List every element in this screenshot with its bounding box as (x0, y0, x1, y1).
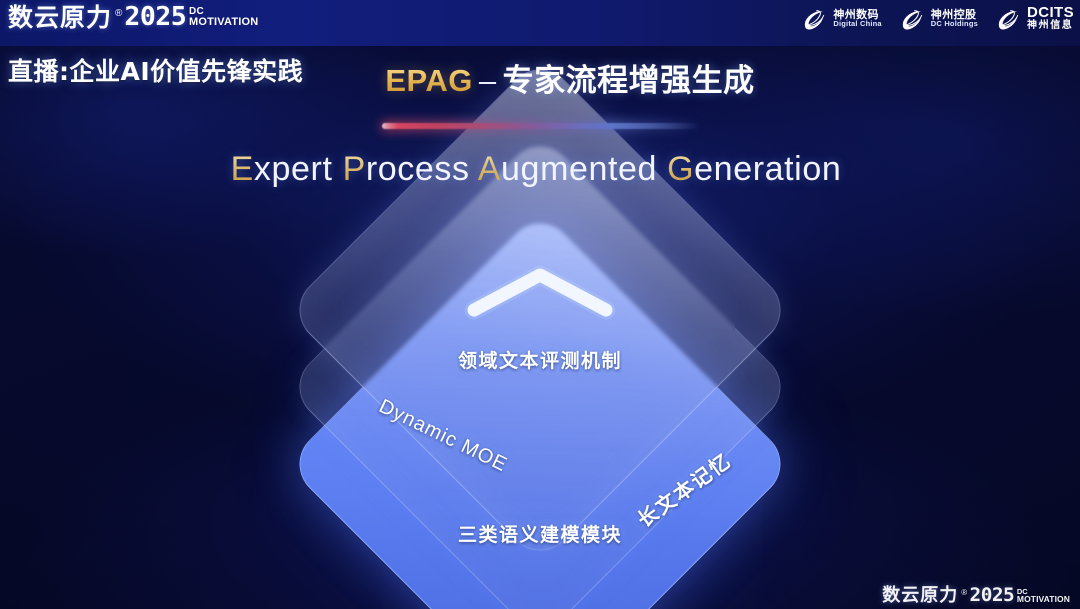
watermark-registered-mark: ® (961, 589, 967, 597)
partner-logo-dcits: DCITS 神州信息 (995, 5, 1074, 32)
partner-name-en: DCITS (1027, 5, 1074, 20)
watermark-logo: 数云原力 ® 2025 DC MOTIVATION (882, 586, 1070, 605)
partner-name-en: DC Holdings (931, 20, 978, 28)
slide-canvas: 数云原力 ® 2025 DC MOTIVATION 直播:企业AI价值先锋实践 … (0, 0, 1080, 609)
subtitle-word-generation: Generation (667, 150, 841, 188)
title-divider (382, 123, 700, 129)
watermark-name-cn: 数云原力 (882, 587, 958, 605)
subtitle-cap-a: A (478, 150, 501, 188)
swirl-logo-icon (899, 5, 926, 32)
subtitle-cap-e: E (231, 150, 254, 188)
subtitle-cap-g: G (667, 150, 694, 188)
subtitle-word-expert: Expert (231, 150, 333, 188)
title-dash: – (479, 63, 497, 98)
title-acronym: EPAG (385, 63, 473, 98)
brand-name-cn: 数云原力 (8, 5, 112, 30)
subtitle-rest-expert: xpert (254, 150, 333, 188)
brand-logo: 数云原力 ® 2025 DC MOTIVATION (8, 4, 258, 30)
partner-logo-group: 神州数码 Digital China 神州控股 DC Holdings DCIT… (801, 5, 1074, 32)
registered-mark: ® (115, 9, 122, 19)
stack-label-bottom: 三类语义建模模块 (284, 520, 796, 547)
subtitle-word-process: Process (343, 150, 470, 188)
partner-logo-digital-china: 神州数码 Digital China (801, 5, 881, 32)
partner-name-en: Digital China (833, 20, 881, 28)
swirl-logo-icon (995, 5, 1022, 32)
subtitle-word-augmented: Augmented (478, 150, 657, 188)
watermark-dc-motivation: DC MOTIVATION (1017, 588, 1070, 604)
swirl-logo-icon (801, 5, 828, 32)
subtitle-rest-process: rocess (366, 150, 470, 188)
subtitle: Expert Process Augmented Generation (0, 150, 1080, 189)
live-session-title: 直播:企业AI价值先锋实践 (8, 52, 303, 88)
partner-text: 神州控股 DC Holdings (931, 9, 978, 29)
brand-dc-motivation: DC MOTIVATION (189, 7, 258, 28)
partner-name-cn: 神州信息 (1027, 21, 1074, 32)
partner-text: 神州数码 Digital China (833, 9, 881, 29)
layered-stack-diagram: 领域文本评测机制 Dynamic MOE 长文本记忆 三类语义建模模块 (284, 226, 796, 588)
subtitle-rest-augmented: ugmented (501, 150, 657, 188)
title-chinese: 专家流程增强生成 (503, 63, 755, 99)
brand-motivation: MOTIVATION (189, 17, 258, 28)
subtitle-rest-generation: eneration (694, 150, 841, 188)
subtitle-cap-p: P (343, 150, 366, 188)
partner-logo-dc-holdings: 神州控股 DC Holdings (899, 5, 978, 32)
watermark-motivation: MOTIVATION (1017, 595, 1070, 604)
chevron-up-icon (464, 264, 616, 320)
brand-year: 2025 (125, 4, 187, 30)
partner-text: DCITS 神州信息 (1027, 5, 1074, 31)
stack-label-top: 领域文本评测机制 (284, 346, 796, 373)
watermark-year: 2025 (970, 586, 1015, 605)
